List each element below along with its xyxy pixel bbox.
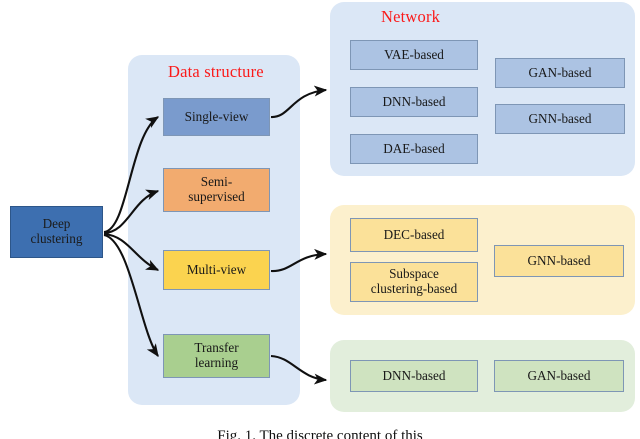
node-gnn-based-mv: GNN-based [494, 245, 624, 277]
node-vae-based: VAE-based [350, 40, 478, 70]
node-gnn-based-net: GNN-based [495, 104, 625, 134]
node-semi-supervised: Semi- supervised [163, 168, 270, 212]
figure-caption: Fig. 1. The discrete content of this [0, 428, 640, 439]
panel-title-data-structure: Data structure [168, 62, 264, 82]
panel-title-network: Network [381, 7, 440, 27]
node-multi-view: Multi-view [163, 250, 270, 290]
node-subspace-clustering-based: Subspace clustering-based [350, 262, 478, 302]
node-dec-based: DEC-based [350, 218, 478, 252]
node-dae-based: DAE-based [350, 134, 478, 164]
node-deep-clustering: Deep clustering [10, 206, 103, 258]
node-dnn-based-tl: DNN-based [350, 360, 478, 392]
node-gan-based-net: GAN-based [495, 58, 625, 88]
node-transfer-learning: Transfer learning [163, 334, 270, 378]
node-single-view: Single-view [163, 98, 270, 136]
node-gan-based-tl: GAN-based [494, 360, 624, 392]
figure-container: Data structureSingle-viewSemi- supervise… [0, 0, 640, 439]
node-dnn-based-net: DNN-based [350, 87, 478, 117]
